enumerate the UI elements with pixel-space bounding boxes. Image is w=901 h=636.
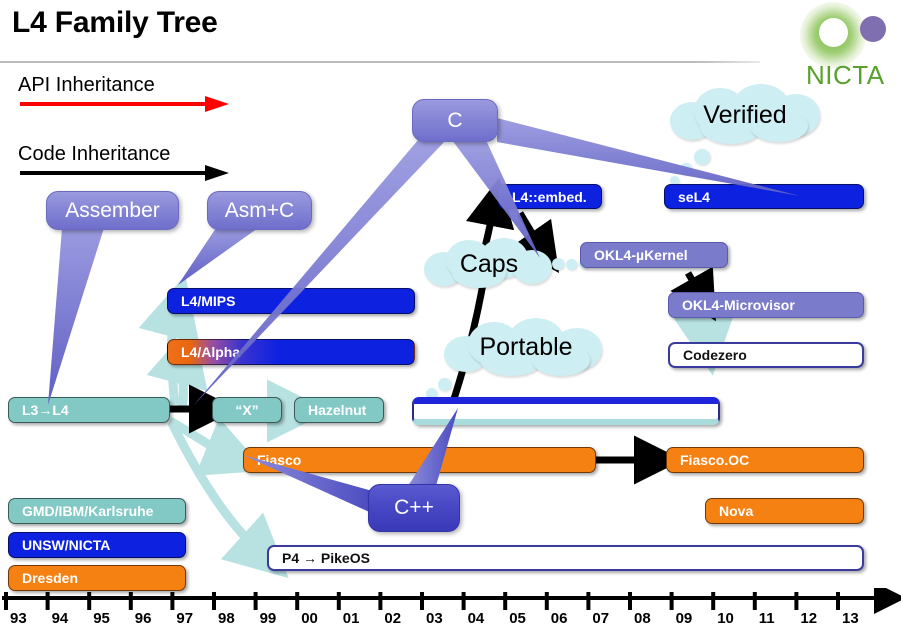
timeline-year-label: 98 xyxy=(218,610,252,627)
node-p4-pikeos[interactable]: P4 → PikeOS xyxy=(267,545,864,571)
timeline-year-label: 07 xyxy=(592,610,626,627)
node-x[interactable]: “X” xyxy=(212,397,282,423)
timeline-year-label: 03 xyxy=(426,610,460,627)
timeline-year-label: 04 xyxy=(468,610,502,627)
timeline-year-label: 95 xyxy=(93,610,127,627)
timeline-year-label: 99 xyxy=(260,610,294,627)
callout-assember[interactable]: Assember xyxy=(46,191,179,230)
node-l4-embedded[interactable]: L4::embed. xyxy=(498,184,602,209)
callout-cpp[interactable]: C++ xyxy=(368,484,460,532)
node-pistachio[interactable] xyxy=(412,397,720,425)
node-nova[interactable]: Nova xyxy=(705,498,864,524)
cloud-portable-label: Portable xyxy=(440,316,612,378)
node-hazelnut[interactable]: Hazelnut xyxy=(294,397,384,423)
timeline-year-label: 13 xyxy=(842,610,876,627)
legend-key-gmd-ibm-karlsruhe: GMD/IBM/Karlsruhe xyxy=(8,498,186,524)
cloud-trail-dot xyxy=(694,149,710,165)
timeline-year-label: 01 xyxy=(343,610,377,627)
slide-canvas: L4 Family Tree NICTA API Inheritance Cod… xyxy=(0,0,901,631)
cloud-portable: Portable xyxy=(440,316,612,378)
node-l3-to-l4[interactable]: L3→L4 xyxy=(8,397,170,423)
timeline-year-label: 93 xyxy=(10,610,44,627)
callout-c[interactable]: C xyxy=(412,99,498,142)
cloud-verified-label: Verified xyxy=(660,84,830,146)
timeline-year-label: 94 xyxy=(52,610,86,627)
cloud-verified: Verified xyxy=(660,84,830,146)
timeline-year-label: 11 xyxy=(759,610,793,627)
node-codezero[interactable]: Codezero xyxy=(668,342,864,368)
timeline-year-label: 02 xyxy=(384,610,418,627)
node-fiasco[interactable]: Fiasco xyxy=(243,447,596,473)
cloud-trail-dot xyxy=(566,259,577,270)
node-l4-mips[interactable]: L4/MIPS xyxy=(167,288,415,314)
timeline-year-label: 96 xyxy=(135,610,169,627)
node-okl4-microvisor[interactable]: OKL4-Microvisor xyxy=(668,292,864,318)
cloud-trail-dot xyxy=(438,378,451,391)
node-l4-alpha[interactable]: L4/Alpha xyxy=(167,339,415,365)
legend-key-unsw-nicta: UNSW/NICTA xyxy=(8,532,186,558)
node-okl4-ukernel[interactable]: OKL4-µKernel xyxy=(580,242,728,268)
cloud-trail-dot xyxy=(680,163,692,175)
cloud-caps-label: Caps xyxy=(420,236,558,292)
cloud-caps: Caps xyxy=(420,236,558,292)
callout-asm-plus-c[interactable]: Asm+C xyxy=(207,191,312,230)
timeline-year-label: 12 xyxy=(800,610,834,627)
node-sel4[interactable]: seL4 xyxy=(664,184,864,209)
timeline-year-label: 05 xyxy=(509,610,543,627)
timeline-axis: 9394959697989900010203040506070809101112… xyxy=(0,588,901,631)
timeline-year-label: 97 xyxy=(176,610,210,627)
timeline-year-label: 08 xyxy=(634,610,668,627)
timeline-year-label: 00 xyxy=(301,610,335,627)
timeline-year-label: 06 xyxy=(551,610,585,627)
node-fiasco-oc[interactable]: Fiasco.OC xyxy=(666,447,864,473)
timeline-year-label: 10 xyxy=(717,610,751,627)
timeline-year-label: 09 xyxy=(676,610,710,627)
